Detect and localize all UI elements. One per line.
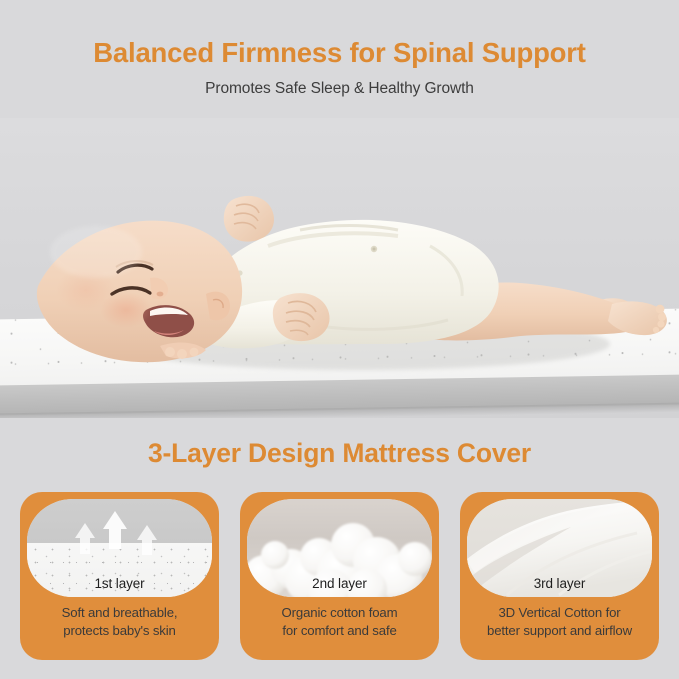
layer-card-3[interactable]: 3rd layer 3D Vertical Cotton for better …	[460, 492, 659, 660]
page-subtitle: Promotes Safe Sleep & Healthy Growth	[0, 80, 679, 98]
card-description-line-1: Organic cotton foam	[246, 604, 433, 622]
layer-card-2[interactable]: 2nd layer Organic cotton foam for comfor…	[240, 492, 439, 660]
layer-label: 3rd layer	[467, 576, 652, 591]
card-description: Soft and breathable, protects baby's ski…	[26, 604, 213, 639]
card-description: Organic cotton foam for comfort and safe	[246, 604, 433, 639]
card-description-line-2: better support and airflow	[466, 622, 653, 640]
layer-cards-row: 1st layer Soft and breathable, protects …	[20, 492, 659, 660]
card-description-line-1: Soft and breathable,	[26, 604, 213, 622]
layer-label: 1st layer	[27, 576, 212, 591]
card-description: 3D Vertical Cotton for better support an…	[466, 604, 653, 639]
page-title: Balanced Firmness for Spinal Support	[0, 37, 679, 69]
header-section: Balanced Firmness for Spinal Support Pro…	[0, 0, 679, 118]
section-title: 3-Layer Design Mattress Cover	[0, 438, 679, 469]
layer-card-1[interactable]: 1st layer Soft and breathable, protects …	[20, 492, 219, 660]
layer-label: 2nd layer	[247, 576, 432, 591]
card-description-line-2: for comfort and safe	[246, 622, 433, 640]
card-description-line-1: 3D Vertical Cotton for	[466, 604, 653, 622]
infographic-page: Balanced Firmness for Spinal Support Pro…	[0, 0, 679, 679]
vertical-cotton-sheet-icon: 3rd layer	[467, 499, 652, 597]
card-description-line-2: protects baby's skin	[26, 622, 213, 640]
baby-illustration	[0, 118, 679, 418]
cotton-balls-icon: 2nd layer	[247, 499, 432, 597]
breathable-arrows-icon: 1st layer	[27, 499, 212, 597]
hero-photo	[0, 118, 679, 418]
